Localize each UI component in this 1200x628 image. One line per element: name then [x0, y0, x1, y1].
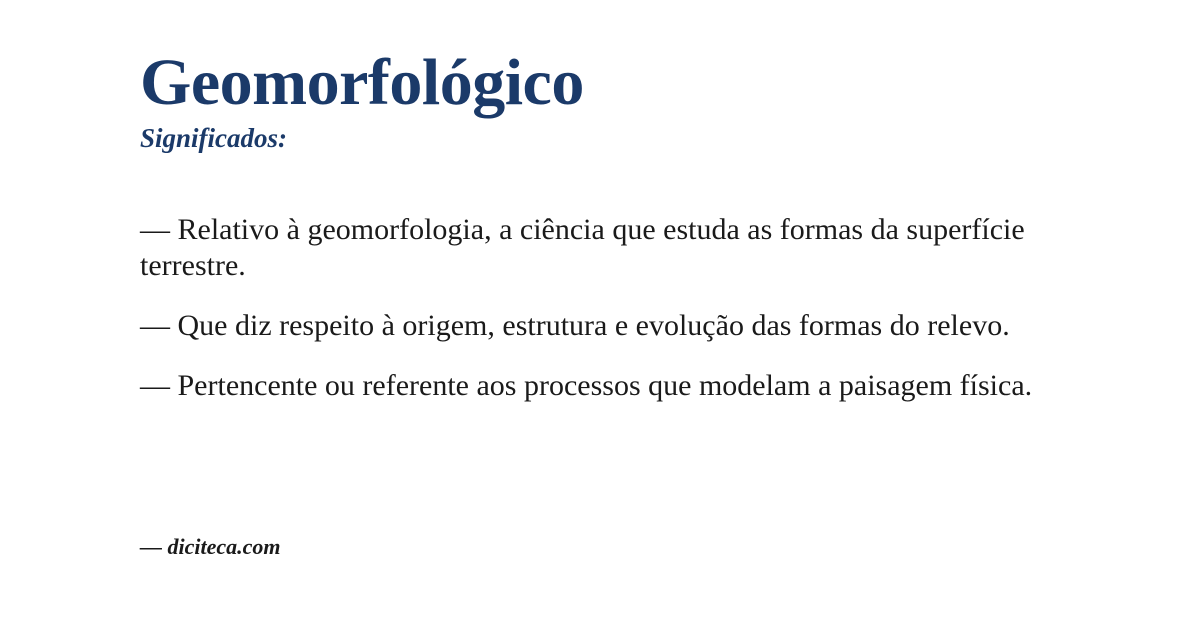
card-footer: — diciteca.com	[140, 534, 281, 560]
definition-text: Relativo à geomorfologia, a ciência que …	[140, 213, 1025, 282]
definitions-list: — Relativo à geomorfologia, a ciência qu…	[140, 212, 1060, 404]
em-dash-marker: —	[140, 369, 170, 402]
card-header: Geomorfológico Significados:	[140, 0, 1060, 154]
page-title: Geomorfológico	[140, 50, 1060, 116]
definition-text: Pertencente ou referente aos processos q…	[178, 369, 1033, 402]
definition-item: — Que diz respeito à origem, estrutura e…	[140, 308, 1060, 344]
source-attribution: — diciteca.com	[140, 534, 281, 560]
definition-item: — Pertencente ou referente aos processos…	[140, 368, 1060, 404]
definition-card: Geomorfológico Significados: — Relativo …	[0, 0, 1200, 628]
em-dash-marker: —	[140, 534, 162, 559]
em-dash-marker: —	[140, 213, 170, 246]
em-dash-marker: —	[140, 309, 170, 342]
definition-item: — Relativo à geomorfologia, a ciência qu…	[140, 212, 1060, 284]
source-domain: diciteca.com	[168, 534, 281, 559]
meanings-label: Significados:	[140, 124, 1060, 154]
definition-text: Que diz respeito à origem, estrutura e e…	[178, 309, 1010, 342]
